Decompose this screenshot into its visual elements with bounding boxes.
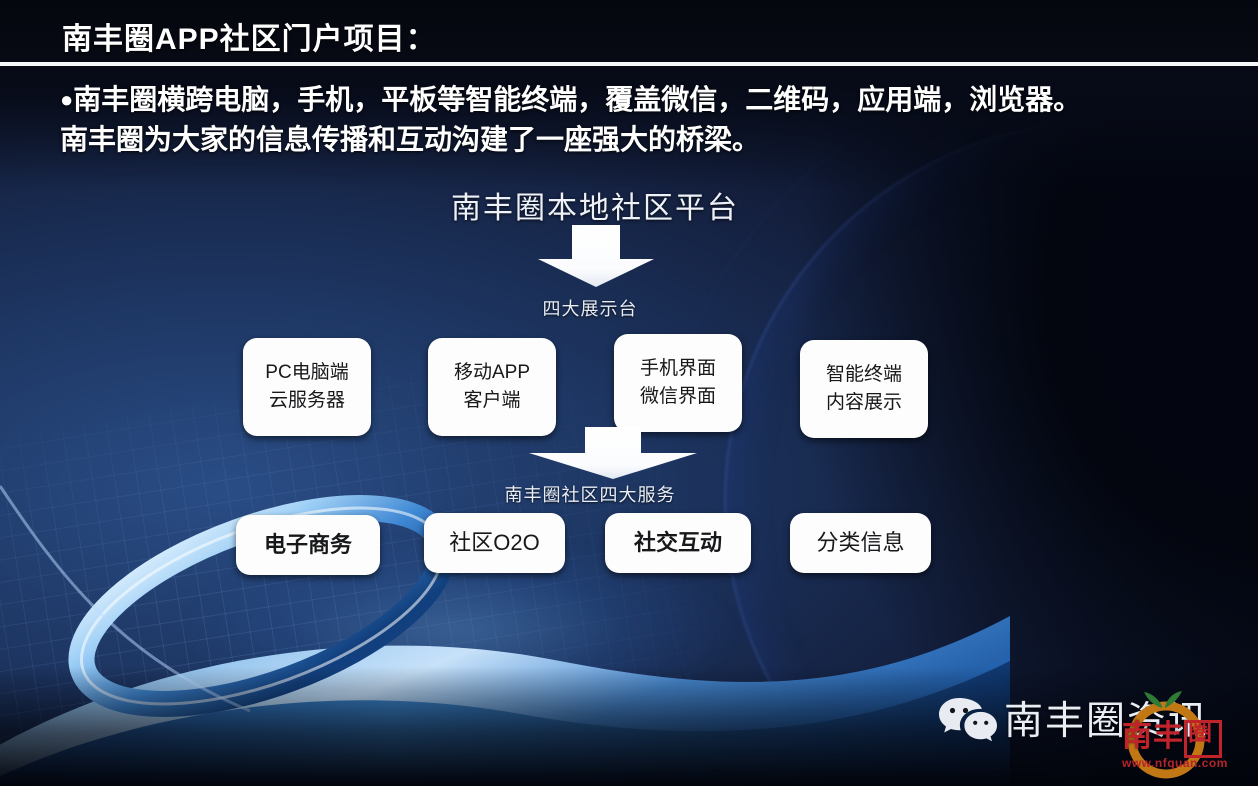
tier1-card-mobile[interactable]: 手机界面微信界面 — [614, 334, 742, 432]
tier2-card-classified-label: 分类信息 — [816, 527, 904, 559]
watermark-logo: 南丰 圈 www.nfquan.com — [1122, 722, 1226, 774]
tier1-card-smart-terminal-line2: 内容展示 — [826, 392, 902, 413]
tier2-card-classified[interactable]: 分类信息 — [790, 513, 931, 573]
wechat-icon — [938, 696, 998, 742]
tier2-card-o2o-label: 社区O2O — [449, 527, 539, 559]
tier2-card-ecommerce[interactable]: 电子商务 — [236, 515, 380, 575]
watermark-logo-text: 南丰 — [1122, 722, 1184, 752]
tier2-caption: 南丰圈社区四大服务 — [0, 481, 1180, 507]
arrow-down-to-tier1 — [536, 225, 656, 287]
tier1-card-pc[interactable]: PC电脑端云服务器 — [243, 338, 371, 436]
slide-canvas: 南丰圈APP社区门户项目： ●南丰圈横跨电脑，手机，平板等智能终端，覆盖微信，二… — [0, 0, 1258, 786]
tier1-card-smart-terminal-label: 智能终端内容展示 — [826, 361, 902, 416]
lead-line-1: 南丰圈横跨电脑，手机，平板等智能终端，覆盖微信，二维码，应用端，浏览器。 — [73, 84, 1081, 115]
tier1-card-pc-label: PC电脑端云服务器 — [265, 359, 348, 414]
watermark-logo-boxed-char-text: 圈 — [1188, 721, 1212, 745]
tier2-card-ecommerce-label: 电子商务 — [264, 529, 352, 561]
tier1-card-app-line2: 客户端 — [463, 390, 520, 411]
tier1-card-mobile-line2: 微信界面 — [640, 386, 716, 407]
tier2-card-social-label: 社交互动 — [634, 527, 722, 559]
arrow-down-to-tier2 — [527, 427, 699, 479]
tier1-card-pc-line1: PC电脑端 — [265, 362, 348, 383]
tier1-card-mobile-label: 手机界面微信界面 — [640, 355, 716, 410]
page-title: 南丰圈APP社区门户项目： — [62, 14, 437, 58]
tier1-card-mobile-line1: 手机界面 — [640, 358, 716, 379]
lead-line-2: 南丰圈为大家的信息传播和互动沟建了一座强大的桥梁。 — [60, 124, 760, 155]
watermark-logo-boxed-char: 圈 — [1184, 720, 1222, 758]
tier1-card-app[interactable]: 移动APP客户端 — [428, 338, 556, 436]
tier1-card-pc-line2: 云服务器 — [269, 390, 345, 411]
tier2-card-o2o[interactable]: 社区O2O — [424, 513, 565, 573]
header-divider — [0, 62, 1258, 66]
platform-title: 南丰圈本地社区平台 — [0, 183, 1190, 227]
lead-paragraph: ●南丰圈横跨电脑，手机，平板等智能终端，覆盖微信，二维码，应用端，浏览器。 南丰… — [60, 80, 1235, 160]
watermark-logo-url: www.nfquan.com — [1122, 756, 1228, 770]
bullet-icon: ● — [60, 87, 73, 112]
watermark: 南丰圈资讯 南丰 圈 www.nfquan.com — [938, 688, 1238, 780]
tier1-card-app-label: 移动APP客户端 — [454, 359, 530, 414]
tier2-card-social[interactable]: 社交互动 — [605, 513, 751, 573]
tier1-card-smart-terminal[interactable]: 智能终端内容展示 — [800, 340, 928, 438]
tier1-caption: 四大展示台 — [0, 295, 1180, 321]
tier1-card-app-line1: 移动APP — [454, 362, 530, 383]
tier1-card-smart-terminal-line1: 智能终端 — [826, 364, 902, 385]
